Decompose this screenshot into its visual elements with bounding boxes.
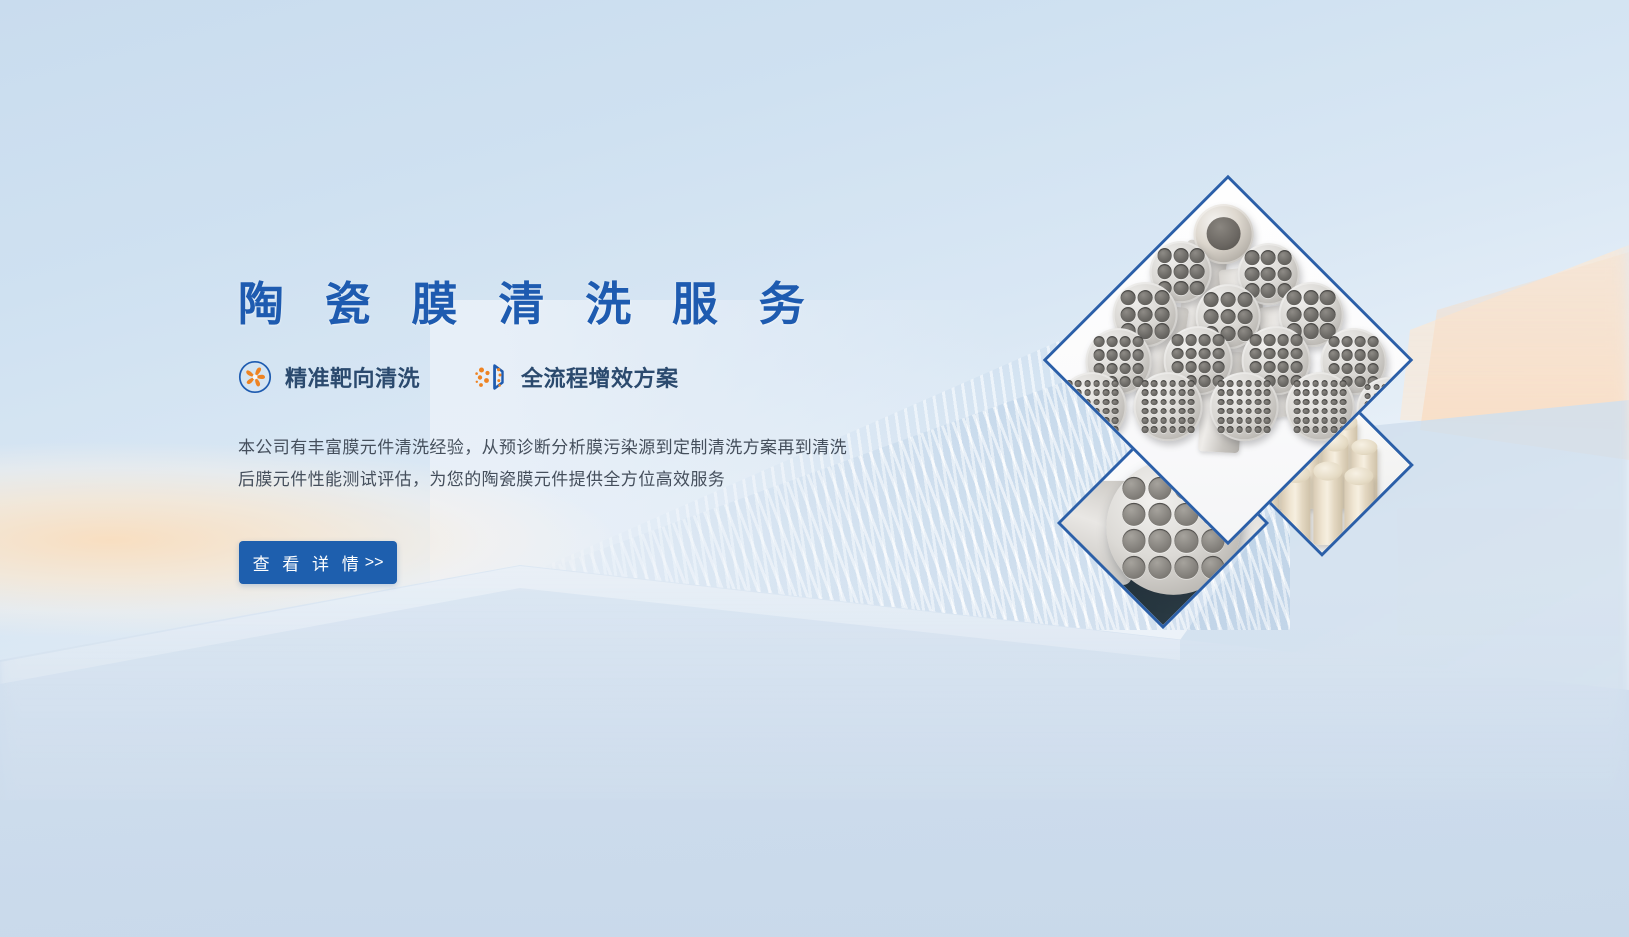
flow-dots-icon bbox=[474, 360, 508, 394]
view-details-label: 查 看 详 情 bbox=[253, 550, 363, 575]
feature-item-targeted-cleaning: 精准靶向清洗 bbox=[238, 360, 420, 394]
feature-label: 精准靶向清洗 bbox=[285, 361, 420, 393]
feature-list: 精准靶向清洗 bbox=[238, 360, 679, 394]
feature-label: 全流程增效方案 bbox=[521, 361, 679, 393]
chevron-double-right-icon: >> bbox=[365, 554, 384, 572]
pinwheel-flower-icon bbox=[238, 360, 272, 394]
feature-item-full-process: 全流程增效方案 bbox=[474, 360, 679, 394]
hero-banner: 陶 瓷 膜 清 洗 服 务 bbox=[0, 0, 1629, 937]
description: 本公司有丰富膜元件清洗经验，从预诊断分析膜污染源到定制清洗方案再到清洗 后膜元件… bbox=[238, 432, 918, 496]
description-line: 后膜元件性能测试评估，为您的陶瓷膜元件提供全方位高效服务 bbox=[238, 464, 918, 496]
view-details-button[interactable]: 查 看 详 情 >> bbox=[239, 541, 397, 584]
description-line: 本公司有丰富膜元件清洗经验，从预诊断分析膜污染源到定制清洗方案再到清洗 bbox=[238, 432, 918, 464]
hero-content: 陶 瓷 膜 清 洗 服 务 bbox=[238, 0, 998, 937]
page-title: 陶 瓷 膜 清 洗 服 务 bbox=[238, 268, 819, 334]
